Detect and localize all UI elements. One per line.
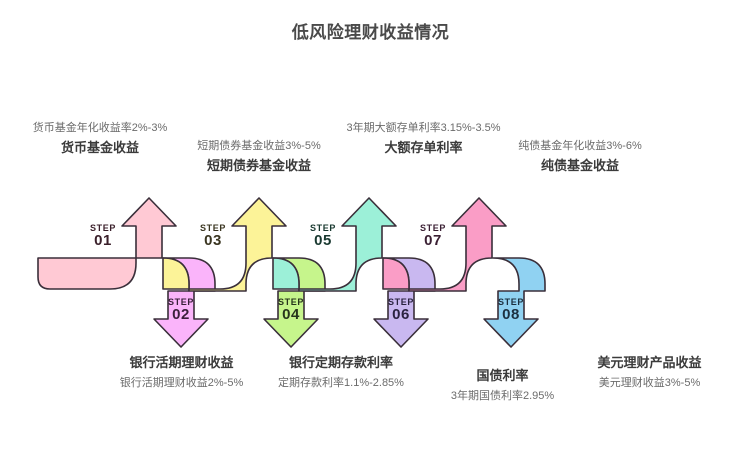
label-desc-06: 3年期国债利率2.95%: [424, 389, 581, 403]
ribbon-step-03[interactable]: [163, 198, 286, 291]
label-desc-05: 3年期大额存单利率3.15%-3.5%: [336, 121, 511, 135]
label-block-step-03: 短期债券基金收益3%-5% 短期债券基金收益: [178, 139, 340, 175]
label-desc-04: 定期存款利率1.1%-2.85%: [263, 376, 419, 390]
label-desc-03: 短期债券基金收益3%-5%: [178, 139, 340, 153]
label-title-03: 短期债券基金收益: [178, 158, 340, 174]
label-title-07: 纯债基金收益: [494, 158, 666, 174]
label-desc-02: 银行活期理财收益2%-5%: [104, 376, 259, 390]
label-title-04: 银行定期存款利率: [263, 355, 419, 371]
ribbon-step-07[interactable]: [383, 198, 506, 291]
label-title-01: 货币基金收益: [14, 140, 186, 156]
label-desc-08: 美元理财收益3%-5%: [572, 376, 727, 390]
label-desc-01: 货币基金年化收益率2%-3%: [14, 121, 186, 135]
ribbon-step-08[interactable]: [484, 258, 545, 347]
label-title-06: 国债利率: [424, 368, 581, 384]
label-block-step-06: 国债利率 3年期国债利率2.95%: [424, 368, 581, 404]
label-title-08: 美元理财产品收益: [572, 355, 727, 371]
label-block-step-02: 银行活期理财收益 银行活期理财收益2%-5%: [104, 355, 259, 391]
label-title-02: 银行活期理财收益: [104, 355, 259, 371]
label-title-05: 大额存单利率: [336, 140, 511, 156]
label-block-step-04: 银行定期存款利率 定期存款利率1.1%-2.85%: [263, 355, 419, 391]
label-block-step-01: 货币基金年化收益率2%-3% 货币基金收益: [14, 121, 186, 157]
ribbon-step-01[interactable]: [38, 198, 176, 289]
label-block-step-08: 美元理财产品收益 美元理财收益3%-5%: [572, 355, 727, 391]
label-block-step-05: 3年期大额存单利率3.15%-3.5% 大额存单利率: [336, 121, 511, 157]
label-block-step-07: 纯债基金年化收益3%-6% 纯债基金收益: [494, 139, 666, 175]
ribbon-step-05[interactable]: [273, 198, 396, 291]
infographic-page: 低风险理财收益情况 STEP 01 STEP 02 STEP 03 STEP 0…: [0, 0, 741, 453]
label-desc-07: 纯债基金年化收益3%-6%: [494, 139, 666, 153]
